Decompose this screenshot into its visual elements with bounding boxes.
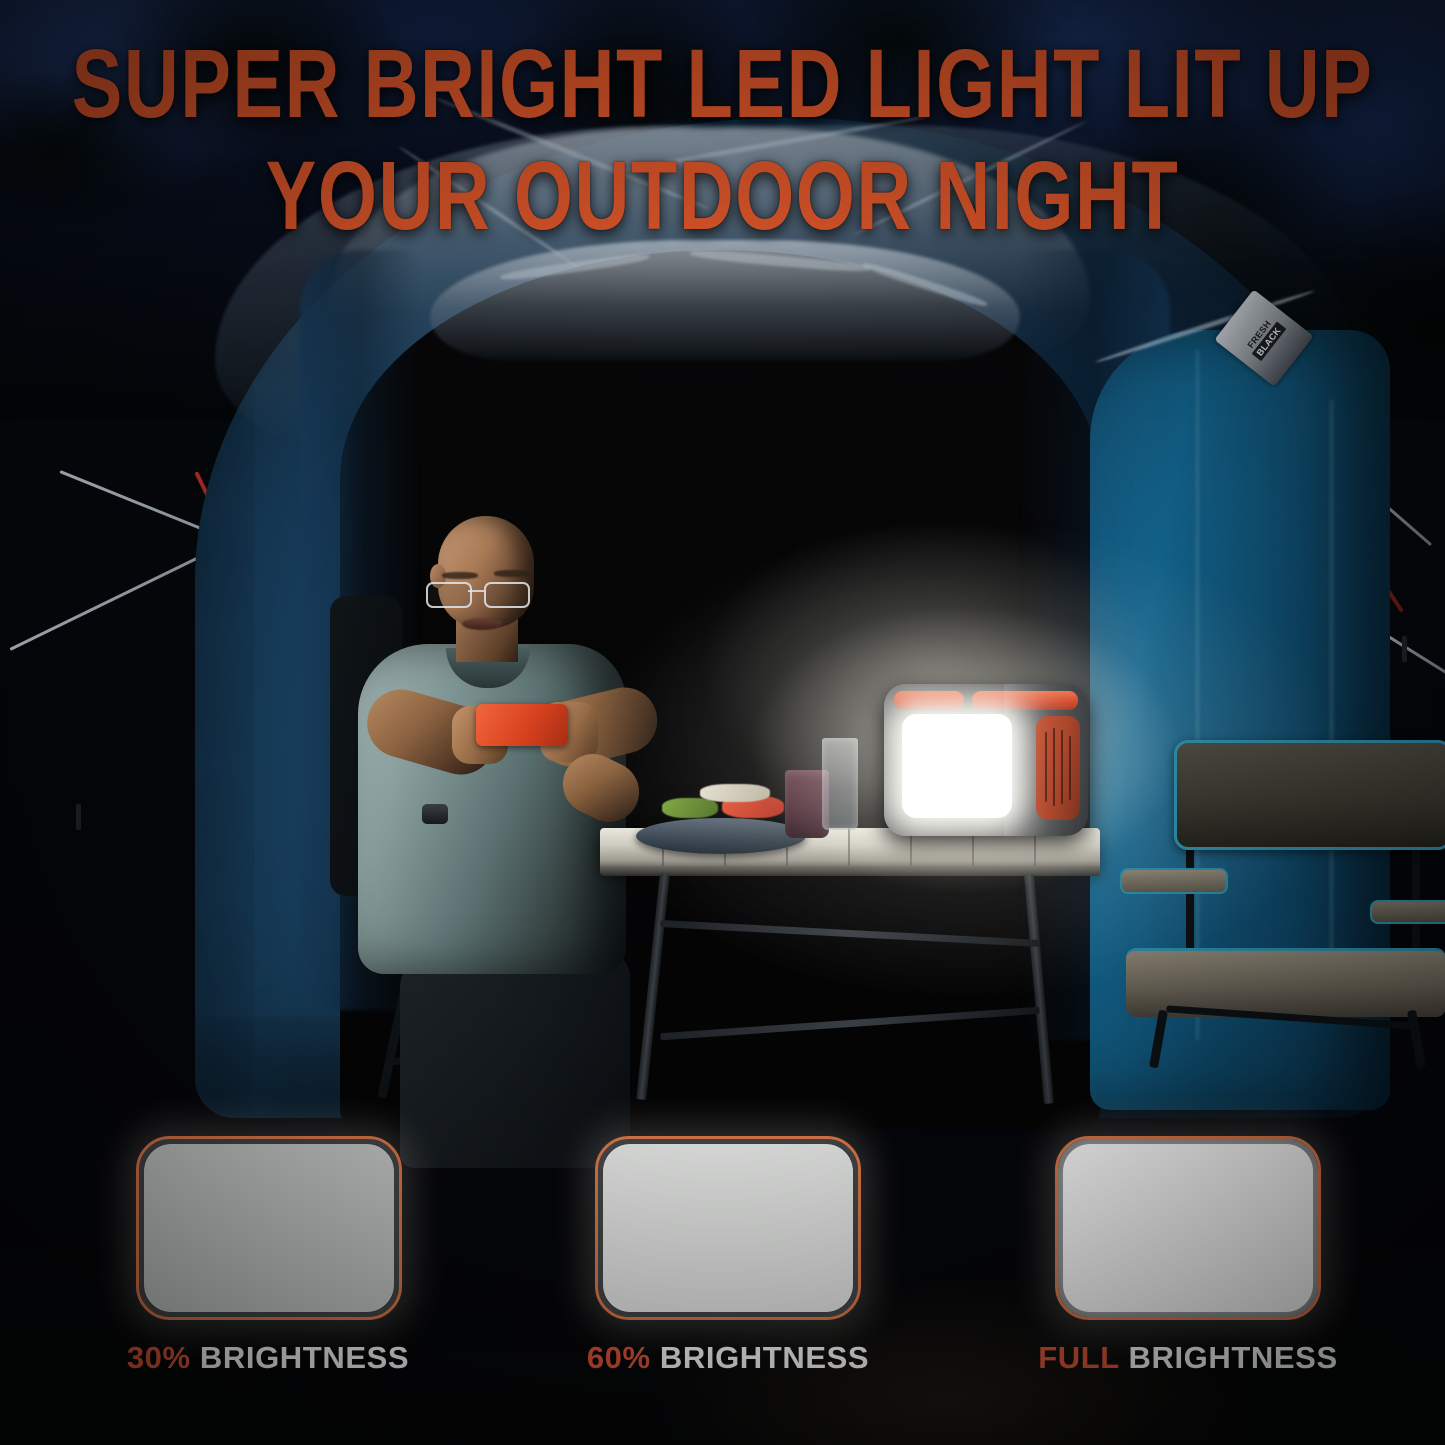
lantern-handle-left xyxy=(894,691,964,710)
brightness-text-60: BRIGHTNESS xyxy=(660,1340,869,1375)
brightness-percent-full: FULL xyxy=(1038,1340,1119,1375)
person-legs xyxy=(400,948,630,1168)
brightness-percent-30: 30% xyxy=(127,1340,191,1375)
water-glass xyxy=(822,738,858,830)
smartphone xyxy=(476,704,568,746)
eyeglass-bridge xyxy=(468,590,484,592)
food-greens xyxy=(662,798,718,818)
camp-chair-armrest-left xyxy=(1120,868,1228,894)
brightness-text-30: BRIGHTNESS xyxy=(200,1340,409,1375)
brightness-swatch-60[interactable] xyxy=(595,1136,861,1320)
brightness-label-60: 60% BRIGHTNESS xyxy=(518,1340,938,1376)
camp-chair-leg xyxy=(1407,1010,1426,1069)
eyeglass-lens-right xyxy=(484,582,530,608)
brightness-swatch-30-fill xyxy=(144,1144,394,1312)
product-marketing-poster: FRESH BLACK xyxy=(0,0,1445,1445)
vent-slit xyxy=(1069,736,1071,800)
person-mouth xyxy=(462,618,502,630)
brightness-swatch-30[interactable] xyxy=(136,1136,402,1320)
brightness-swatch-row xyxy=(0,1136,1445,1336)
camp-chair-armrest-right xyxy=(1370,900,1445,924)
vent-slit xyxy=(1061,730,1063,804)
brightness-label-30: 30% BRIGHTNESS xyxy=(58,1340,478,1376)
dinner-plate xyxy=(636,818,806,854)
person-eyebrow xyxy=(494,570,530,577)
wristwatch xyxy=(422,804,448,824)
camp-chair-leg xyxy=(1149,1010,1168,1069)
food-bread xyxy=(700,784,770,802)
camp-chair-right xyxy=(1126,718,1445,1068)
brightness-swatch-full[interactable] xyxy=(1055,1136,1321,1320)
camp-chair-backrest xyxy=(1174,740,1445,850)
lantern-led-panel xyxy=(902,714,1012,818)
led-camping-lantern xyxy=(884,684,1088,836)
table-slat xyxy=(848,828,850,870)
person-eyebrow xyxy=(442,572,478,579)
lantern-body-shading xyxy=(1004,684,1050,836)
brightness-swatch-60-fill xyxy=(603,1144,853,1312)
brightness-swatch-full-fill xyxy=(1063,1144,1313,1312)
camp-chair-frame xyxy=(1412,838,1420,958)
brightness-text-full: BRIGHTNESS xyxy=(1129,1340,1338,1375)
brightness-percent-60: 60% xyxy=(587,1340,651,1375)
brightness-label-row: 30% BRIGHTNESS 60% BRIGHTNESS FULL BRIGH… xyxy=(0,1340,1445,1410)
eyeglass-lens-left xyxy=(426,582,472,608)
vent-slit xyxy=(1053,728,1055,806)
person-eyeglasses xyxy=(426,582,544,604)
brightness-label-full: FULL BRIGHTNESS xyxy=(978,1340,1398,1376)
